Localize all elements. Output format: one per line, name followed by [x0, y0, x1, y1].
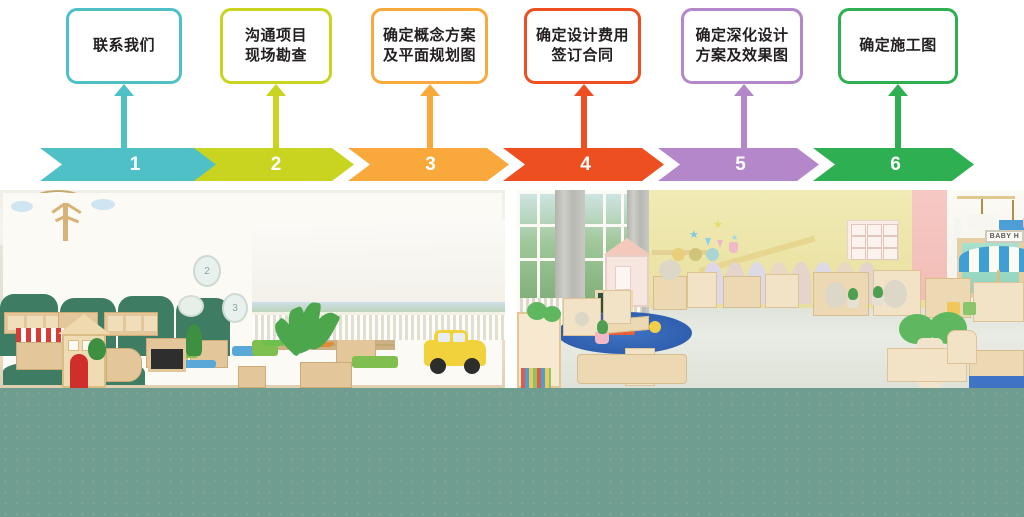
plant-leaf-2 [848, 288, 858, 300]
pencil-holder [521, 368, 551, 388]
roller-blind-4 [438, 220, 505, 309]
connector-arrow-5 [734, 84, 754, 148]
chevron-number-1: 1 [126, 155, 141, 174]
wood-chair-fg [238, 366, 266, 388]
mural-tree-branch-2 [66, 203, 81, 214]
step-box-2[interactable]: 沟通项目 现场勘查 [220, 8, 332, 84]
star-decor-2: ★ [713, 220, 723, 231]
connector-arrow-3 [420, 84, 440, 148]
window-mullion-v1 [537, 190, 540, 310]
wall-mirror-oval [178, 295, 204, 317]
step-box-label-2: 沟通项目 现场勘查 [241, 26, 311, 66]
bottom-teal-band [0, 388, 1024, 517]
wood-panel-upright [603, 290, 631, 324]
round-counter [106, 348, 142, 382]
step-box-4[interactable]: 确定设计费用 签订合同 [524, 8, 641, 84]
chevron-step-1[interactable]: 1 [40, 148, 226, 181]
shop-counter [16, 342, 64, 370]
picture-card-grid [847, 220, 899, 260]
chevron-step-5[interactable]: 5 [658, 148, 819, 181]
pink-playhouse-roof [603, 238, 651, 255]
roller-blind-3 [374, 222, 438, 309]
cupcake-decor [729, 242, 738, 253]
card-cell-4 [851, 236, 866, 248]
baby-house-sign[interactable]: BABY H [985, 230, 1024, 243]
chevron-number-6: 6 [886, 155, 901, 174]
step-box-label-5: 确定深化设计 方案及效果图 [691, 26, 792, 66]
connector-arrow-6 [888, 84, 908, 148]
toy-car-wheel-rear [464, 358, 480, 374]
step-box-1[interactable]: 联系我们 [66, 8, 182, 84]
arrow-stem-3 [427, 95, 433, 148]
arrow-stem-2 [273, 95, 279, 148]
star-decor-1: ★ [689, 230, 699, 241]
step-box-label-4: 确定设计费用 签订合同 [532, 26, 633, 66]
card-cell-5 [867, 236, 882, 248]
step-box-5[interactable]: 确定深化设计 方案及效果图 [681, 8, 803, 84]
play-kitchen-mirror [659, 260, 681, 280]
wall-number-circle-2: 2 [193, 255, 221, 287]
mural-cloud-1 [11, 201, 33, 212]
step-box-label-1: 联系我们 [89, 36, 159, 56]
card-cell-8 [867, 248, 882, 260]
step-box-6[interactable]: 确定施工图 [838, 8, 958, 84]
chevron-step-2[interactable]: 2 [194, 148, 354, 181]
wall-dot-2 [689, 248, 702, 261]
arrow-stem-1 [121, 95, 127, 148]
bin-green [963, 302, 976, 315]
arrow-stem-5 [741, 95, 747, 148]
classroom-photo-left: 2 3 1 [0, 190, 505, 388]
card-cell-9 [883, 248, 898, 260]
wall-dot-1 [672, 248, 685, 261]
pendant-shade-white [967, 214, 997, 230]
shop-awning [16, 328, 64, 342]
chevron-number-5: 5 [731, 155, 746, 174]
mural-cloud-2 [91, 199, 115, 210]
color-mat-right [969, 376, 1024, 388]
card-cell-6 [883, 236, 898, 248]
shelf-card-6 [144, 316, 157, 331]
playhouse-door [70, 354, 88, 388]
wall-number-circle-3: 3 [222, 293, 248, 323]
wood-block-hole [575, 312, 589, 326]
step-box-label-3: 确定概念方案 及平面规划图 [379, 26, 480, 66]
play-kitchen-2 [687, 272, 717, 308]
wood-table-fg [300, 362, 352, 388]
storage-shelf-1 [723, 276, 761, 308]
potted-plant-left [88, 338, 106, 360]
umbrella-canopy [959, 246, 1024, 272]
fg-box-bench [577, 354, 687, 384]
tree-mural-frame [0, 190, 126, 248]
connector-arrow-1 [114, 84, 134, 148]
arrow-stem-6 [895, 95, 901, 148]
rug-pattern-dot [649, 321, 661, 333]
storage-shelf-2 [765, 274, 799, 308]
chalkboard-easel [148, 346, 186, 372]
roller-blind-2 [312, 224, 374, 309]
window-glass-left [520, 194, 560, 304]
classroom-photo-right: ★ ★ ★ BAB [517, 190, 1024, 388]
roller-blind-1 [252, 226, 312, 307]
toy-car-wheel-front [430, 358, 446, 374]
step-box-label-6: 确定施工图 [855, 36, 941, 56]
chevron-step-4[interactable]: 4 [503, 148, 664, 181]
connector-arrow-2 [266, 84, 286, 148]
chevron-number-4: 4 [576, 155, 591, 174]
plant-leaf-3 [873, 286, 883, 298]
playhouse-window-1 [68, 340, 79, 351]
chevron-step-3[interactable]: 3 [348, 148, 509, 181]
card-cell-7 [851, 248, 866, 260]
pink-playhouse-door [615, 266, 631, 290]
pendant-rail [957, 196, 1015, 199]
snake-plant [186, 324, 202, 356]
chevron-number-2: 2 [267, 155, 282, 174]
shelf-unit-right-2 [973, 282, 1024, 322]
arrow-stem-4 [581, 95, 587, 148]
welcome-leaf-2 [543, 306, 561, 322]
connector-arrow-4 [574, 84, 594, 148]
chevron-number-3: 3 [421, 155, 436, 174]
green-table-top [352, 356, 398, 368]
playhouse-roof [58, 314, 110, 334]
card-cell-2 [867, 224, 882, 236]
card-cell-1 [851, 224, 866, 236]
pendant-cord-2 [1012, 200, 1014, 222]
mural-tree-trunk [63, 203, 68, 241]
step-box-3[interactable]: 确定概念方案 及平面规划图 [371, 8, 488, 84]
yellow-toy-car-window [438, 333, 450, 342]
shelf-card-5 [126, 316, 141, 331]
play-kitchen-1 [653, 276, 687, 310]
plant-leaf-1 [597, 320, 608, 334]
baby-house-sign-text: BABY H [990, 233, 1020, 240]
shelf-card-4 [108, 316, 123, 331]
fg-chair-right [947, 330, 977, 364]
cubby-porthole [825, 282, 847, 308]
cubby-porthole-2 [883, 280, 907, 308]
chevron-step-6[interactable]: 6 [813, 148, 974, 181]
yellow-toy-car-window-2 [453, 333, 465, 342]
card-cell-3 [883, 224, 898, 236]
star-decor-3: ★ [731, 234, 738, 242]
wall-dot-3 [706, 248, 719, 261]
